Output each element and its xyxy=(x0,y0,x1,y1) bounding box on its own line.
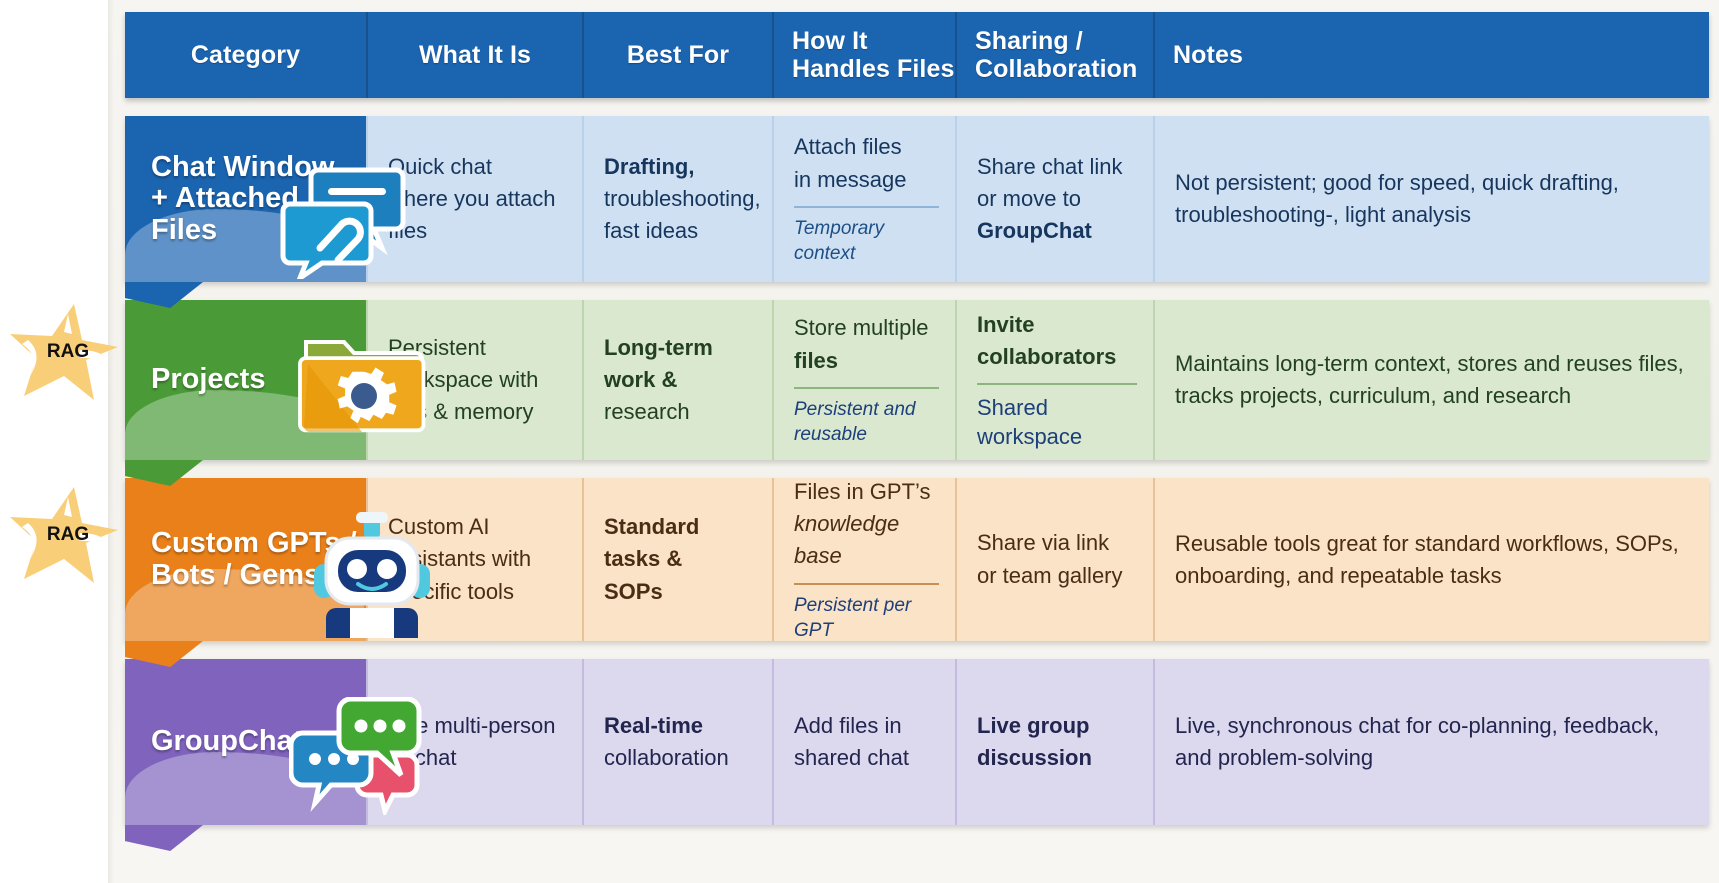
cell-notes-text: Not persistent; good for speed, quick dr… xyxy=(1175,167,1691,231)
row-label-projects: Projects xyxy=(125,300,368,460)
cell-notes: Maintains long-term context, stores and … xyxy=(1155,300,1709,460)
comparison-table: Category What It Is Best For How It Hand… xyxy=(125,12,1709,825)
cell-line: discussion xyxy=(977,742,1137,774)
ribbon-highlight xyxy=(125,752,366,825)
cell-line: troubleshooting, xyxy=(604,183,756,215)
cell-line: Live multi-person xyxy=(388,710,566,742)
row-label-text: Custom GPTs / Bots / Gems xyxy=(151,528,357,591)
cell-line: fast ideas xyxy=(604,215,756,247)
ribbon-fold xyxy=(125,825,203,851)
cell-notes-text: Maintains long-term context, stores and … xyxy=(1175,348,1691,412)
infographic-canvas: Category What It Is Best For How It Hand… xyxy=(0,0,1719,883)
cell-line: or team gallery xyxy=(977,560,1137,592)
cell-handles-files: Store multiple files Persistent and reus… xyxy=(774,300,957,460)
row-label-text: Projects xyxy=(151,364,265,395)
table-row: Custom GPTs / Bots / Gems xyxy=(125,478,1709,641)
cell-line: Quick chat xyxy=(388,151,566,183)
row-label-line-1: Custom GPTs / xyxy=(151,527,357,559)
cell-line: GroupChat xyxy=(977,215,1137,247)
cell-line: Files in GPT’s xyxy=(794,476,939,508)
cell-line: files & memory xyxy=(388,396,566,428)
table-header-row: Category What It Is Best For How It Hand… xyxy=(125,12,1709,98)
row-label-groupchats: GroupChats xyxy=(125,659,368,825)
column-header-label: What It Is xyxy=(419,41,531,69)
cell-best-for: Real-time collaboration xyxy=(584,659,774,825)
cell-footnote: Shared workspace xyxy=(977,383,1137,451)
cell-best-for: Drafting, troubleshooting, fast ideas xyxy=(584,116,774,282)
column-header-label: Notes xyxy=(1173,41,1243,69)
cell-sharing: Share chat link or move to GroupChat xyxy=(957,116,1155,282)
cell-line: Drafting, xyxy=(604,151,756,183)
cell-line: files xyxy=(794,345,939,377)
rag-badge-label: RAG xyxy=(8,300,120,404)
column-header-what-it-is: What It Is xyxy=(368,12,584,98)
cell-line: work & xyxy=(604,364,756,396)
row-label-line-1: Projects xyxy=(151,363,265,395)
cell-line: knowledge base xyxy=(794,508,939,573)
cell-notes-text: Reusable tools great for standard workfl… xyxy=(1175,528,1691,592)
column-header-label: How It Handles Files xyxy=(792,27,954,83)
cell-line: Attach files xyxy=(794,131,939,163)
ribbon-fold xyxy=(125,641,203,667)
cell-line: in message xyxy=(794,164,939,196)
cell-what-it-is: Persistent workspace with files & memory xyxy=(368,300,584,460)
rag-badge-projects: RAG xyxy=(8,300,120,404)
cell-line: Long-term xyxy=(604,332,756,364)
rag-badge-label: RAG xyxy=(8,483,120,587)
cell-what-it-is: Custom AI assistants with specific tools xyxy=(368,478,584,641)
column-header-sharing-collaboration: Sharing / Collaboration xyxy=(957,12,1155,98)
cell-footnote: Persistent per GPT xyxy=(794,583,939,643)
cell-handles-files: Attach files in message Temporary contex… xyxy=(774,116,957,282)
cell-sharing: Share via link or team gallery xyxy=(957,478,1155,641)
column-header-best-for: Best For xyxy=(584,12,774,98)
cell-notes-text: Live, synchronous chat for co-planning, … xyxy=(1175,710,1691,774)
row-label-text: GroupChats xyxy=(151,726,319,757)
row-label-text: Chat Window + Attached Files xyxy=(151,152,366,246)
row-label-line-2: Bots / Gems xyxy=(151,559,320,591)
cell-line: research xyxy=(604,396,756,428)
column-header-notes: Notes xyxy=(1155,12,1709,98)
table-row: Projects Persistent workspace with xyxy=(125,300,1709,460)
cell-what-it-is: Live multi-person AI chat xyxy=(368,659,584,825)
cell-line: workspace with xyxy=(388,364,566,396)
row-label-chat-window: Chat Window + Attached Files xyxy=(125,116,368,282)
cell-line: Invite collaborators xyxy=(977,309,1137,374)
header-line-1: How It xyxy=(792,27,868,55)
cell-line: Persistent xyxy=(388,332,566,364)
cell-line: SOPs xyxy=(604,576,756,608)
column-header-label: Category xyxy=(191,41,300,69)
cell-line: or move to xyxy=(977,183,1137,215)
cell-line: shared chat xyxy=(794,742,939,774)
cell-line: tasks & xyxy=(604,543,756,575)
cell-line: Standard xyxy=(604,511,756,543)
column-header-category: Category xyxy=(125,12,368,98)
cell-line: AI chat xyxy=(388,742,566,774)
cell-line: where you attach xyxy=(388,183,566,215)
cell-line: Add files in xyxy=(794,710,939,742)
table-row: Chat Window + Attached Files xyxy=(125,116,1709,282)
cell-sharing: Live group discussion xyxy=(957,659,1155,825)
cell-line: files xyxy=(388,215,566,247)
cell-line: Live group xyxy=(977,710,1137,742)
column-header-label: Best For xyxy=(627,41,729,69)
row-label-custom-gpts: Custom GPTs / Bots / Gems xyxy=(125,478,368,641)
cell-sharing: Invite collaborators Shared workspace xyxy=(957,300,1155,460)
cell-footnote: Persistent and reusable xyxy=(794,387,939,447)
cell-best-for: Standard tasks & SOPs xyxy=(584,478,774,641)
ribbon-fold xyxy=(125,282,203,308)
column-header-label: Sharing / Collaboration xyxy=(975,27,1137,83)
row-label-line-1: Chat Window xyxy=(151,151,334,183)
cell-line: Share via link xyxy=(977,527,1137,559)
cell-line: collaboration xyxy=(604,742,756,774)
rag-badge-custom-gpts: RAG xyxy=(8,483,120,587)
ribbon-fold xyxy=(125,460,203,486)
cell-what-it-is: Quick chat where you attach files xyxy=(368,116,584,282)
column-header-how-it-handles-files: How It Handles Files xyxy=(774,12,957,98)
cell-footnote: Temporary context xyxy=(794,206,939,266)
row-label-line-1: GroupChats xyxy=(151,725,319,757)
cell-line: Custom AI xyxy=(388,511,566,543)
ribbon-highlight xyxy=(125,390,366,460)
cell-line: assistants with xyxy=(388,543,566,575)
cell-line: Real-time xyxy=(604,710,756,742)
header-line-2: Handles Files xyxy=(792,55,954,83)
header-line-2: Collaboration xyxy=(975,55,1137,83)
cell-notes: Reusable tools great for standard workfl… xyxy=(1155,478,1709,641)
table-row: GroupChats xyxy=(125,659,1709,825)
cell-line: specific tools xyxy=(388,576,566,608)
cell-line: Share chat link xyxy=(977,151,1137,183)
cell-handles-files: Files in GPT’s knowledge base Persistent… xyxy=(774,478,957,641)
cell-handles-files: Add files in shared chat xyxy=(774,659,957,825)
cell-best-for: Long-term work & research xyxy=(584,300,774,460)
cell-line: Store multiple xyxy=(794,312,939,344)
row-label-line-2: + Attached Files xyxy=(151,182,299,245)
header-line-1: Sharing / xyxy=(975,27,1083,55)
cell-notes: Not persistent; good for speed, quick dr… xyxy=(1155,116,1709,282)
cell-notes: Live, synchronous chat for co-planning, … xyxy=(1155,659,1709,825)
